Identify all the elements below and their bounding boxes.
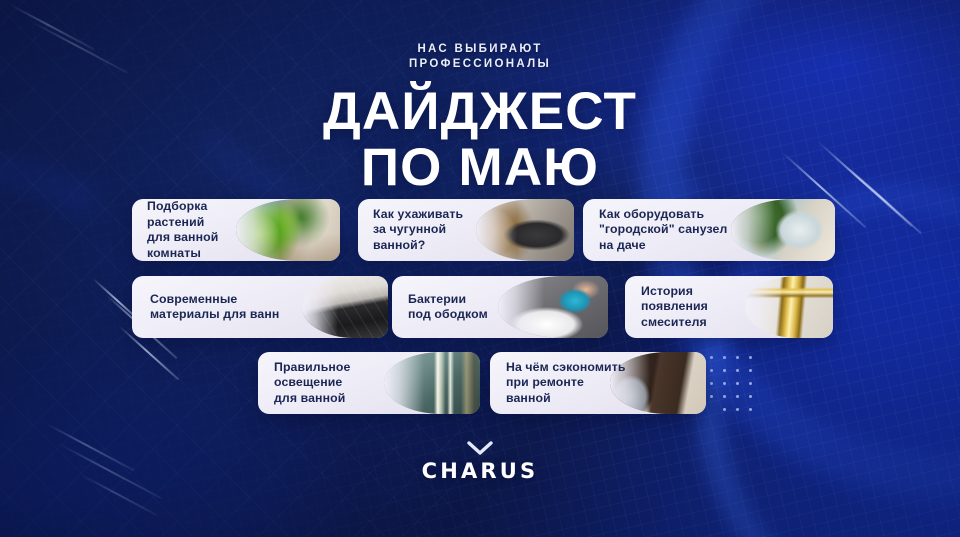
chevron-down-icon <box>0 438 960 460</box>
title-line-2: ПО МАЮ <box>0 142 960 194</box>
decor-dot-grid <box>710 356 770 414</box>
digest-card[interactable]: Как оборудовать "городской" санузел на д… <box>583 199 835 261</box>
gold-faucet-photo <box>745 276 833 338</box>
digest-card[interactable]: Как ухаживать за чугунной ванной? <box>358 199 574 261</box>
kicker-line-2: ПРОФЕССИОНАЛЫ <box>0 57 960 72</box>
page-title: ДАЙДЖЕСТ ПО МАЮ <box>0 86 960 194</box>
digest-card[interactable]: Бактерии под ободком <box>392 276 608 338</box>
digest-card-label: Подборка растений для ванной комнаты <box>132 199 266 261</box>
poster-canvas: НАС ВЫБИРАЮТ ПРОФЕССИОНАЛЫ ДАЙДЖЕСТ ПО М… <box>0 0 960 537</box>
country-house-toilet-photo <box>731 199 835 261</box>
digest-card-label: На чём сэкономить при ремонте ванной <box>490 360 626 407</box>
digest-card-label: Бактерии под ободком <box>392 292 488 323</box>
digest-card[interactable]: История появления смесителя <box>625 276 833 338</box>
toilet-cleaning-photo <box>498 276 608 338</box>
brand-logo: CHARUS <box>0 459 960 483</box>
title-line-1: ДАЙДЖЕСТ <box>323 82 637 141</box>
digest-card-label: Правильное освещение для ванной <box>258 360 350 407</box>
digest-card[interactable]: Правильное освещение для ванной <box>258 352 480 414</box>
marble-material-photo <box>302 276 388 338</box>
digest-card-label: Как оборудовать "городской" санузел на д… <box>583 207 727 254</box>
kicker-text: НАС ВЫБИРАЮТ ПРОФЕССИОНАЛЫ <box>0 42 960 71</box>
kicker-line-1: НАС ВЫБИРАЮТ <box>0 42 960 57</box>
bathroom-lighting-photo <box>384 352 480 414</box>
digest-card-label: Как ухаживать за чугунной ванной? <box>358 207 498 254</box>
digest-card[interactable]: На чём сэкономить при ремонте ванной <box>490 352 706 414</box>
digest-card[interactable]: Современные материалы для ванн <box>132 276 388 338</box>
digest-card[interactable]: Подборка растений для ванной комнаты <box>132 199 340 261</box>
digest-card-label: История появления смесителя <box>625 284 708 331</box>
digest-card-label: Современные материалы для ванн <box>132 292 279 323</box>
